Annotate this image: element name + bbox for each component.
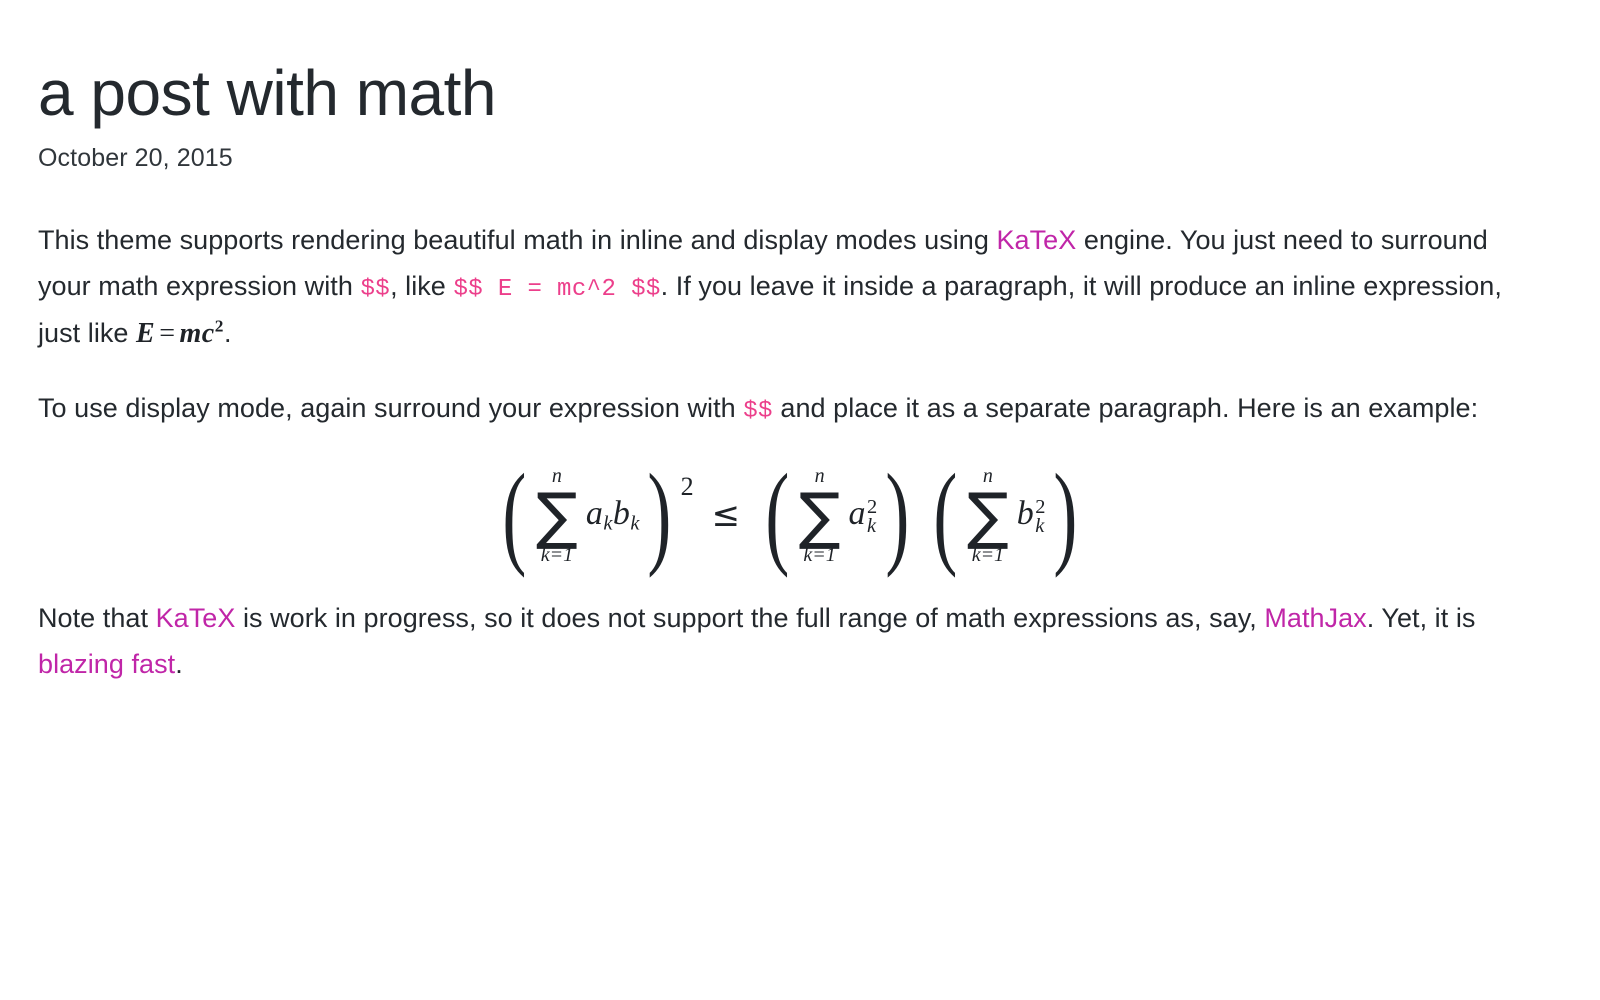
math-variable-mc: mc [180, 318, 215, 349]
summand-rhs1: a2k [849, 495, 878, 536]
display-equation-cauchy-schwarz: ( n ∑ k=1 akbk ) 2 ≤ ( n ∑ [495, 466, 1084, 565]
summation-lhs: n ∑ k=1 [536, 466, 578, 565]
term-base-b: b [613, 495, 631, 532]
code-emc2-snippet: $$ E = mc^2 $$ [453, 276, 660, 303]
paragraph2-text-1: To use display mode, again surround your… [38, 393, 743, 423]
paragraph-note: Note that KaTeX is work in progress, so … [38, 595, 1538, 688]
post-body: This theme supports rendering beautiful … [38, 217, 1562, 688]
sum-lower-limit-rhs2: k=1 [972, 545, 1004, 565]
sum-lower-limit-lhs: k=1 [541, 545, 573, 565]
summation-rhs1: n ∑ k=1 [799, 466, 841, 565]
sum-lower-limit-rhs1: k=1 [803, 545, 835, 565]
code-dollar-delimiters-2: $$ [743, 398, 773, 425]
math-variable-E: E [136, 318, 155, 349]
post-page: a post with math October 20, 2015 This t… [0, 0, 1600, 1000]
paragraph-display-mode: To use display mode, again surround your… [38, 385, 1538, 432]
term-script-stack-rhs1: 2k [867, 498, 878, 537]
term-script-stack-rhs2: 2k [1035, 498, 1046, 537]
term-subscript-b: k [630, 513, 640, 535]
paragraph1-text-5: . [224, 318, 232, 348]
math-equals-sign: = [159, 318, 175, 349]
paragraph3-text-2: is work in progress, so it does not supp… [235, 603, 1264, 633]
equation-rhs-group-1: ( n ∑ k=1 a2k ) [758, 466, 916, 565]
paren-close-rhs2: ) [1053, 466, 1077, 565]
paren-close-lhs: ) [647, 466, 671, 565]
paren-open-lhs: ( [503, 466, 527, 565]
paren-open-rhs1: ( [765, 466, 789, 565]
post-date: October 20, 2015 [38, 144, 1562, 173]
link-blazing-fast[interactable]: blazing fast [38, 649, 175, 679]
sigma-icon: ∑ [967, 487, 1009, 544]
paragraph1-text-1: This theme supports rendering beautiful … [38, 225, 997, 255]
term-base-b-squared: b [1017, 495, 1035, 532]
paragraph2-text-2: and place it as a separate paragraph. He… [773, 393, 1478, 423]
equation-lhs-group: ( n ∑ k=1 akbk ) 2 [495, 466, 693, 565]
term-subscript-k: k [1035, 517, 1045, 536]
link-mathjax[interactable]: MathJax [1264, 603, 1366, 633]
display-equation-container: ( n ∑ k=1 akbk ) 2 ≤ ( n ∑ [38, 466, 1562, 565]
page-title: a post with math [38, 58, 1562, 130]
summation-rhs2: n ∑ k=1 [967, 466, 1009, 565]
inline-math-emc2: E=mc2 [136, 318, 224, 349]
term-base-a: a [586, 495, 604, 532]
paragraph3-text-1: Note that [38, 603, 156, 633]
link-katex-intro[interactable]: KaTeX [997, 225, 1077, 255]
term-base-a-squared: a [849, 495, 867, 532]
equation-rhs-group-2: ( n ∑ k=1 b2k ) [926, 466, 1084, 565]
relation-less-equal: ≤ [712, 495, 741, 535]
sigma-icon: ∑ [799, 487, 841, 544]
paren-close-rhs1: ) [885, 466, 909, 565]
term-subscript-k: k [867, 517, 877, 536]
code-dollar-delimiters: $$ [360, 276, 390, 303]
sigma-icon: ∑ [536, 487, 578, 544]
paragraph3-text-3: . Yet, it is [1367, 603, 1476, 633]
math-exponent-2: 2 [215, 317, 224, 336]
paragraph3-text-4: . [175, 649, 183, 679]
summand-lhs: akbk [586, 495, 640, 536]
summand-rhs2: b2k [1017, 495, 1046, 536]
equation-exponent-2: 2 [681, 472, 694, 502]
paragraph-intro: This theme supports rendering beautiful … [38, 217, 1538, 359]
paragraph1-text-3: , like [390, 271, 453, 301]
term-subscript-a: k [603, 513, 613, 535]
paren-open-rhs2: ( [934, 466, 958, 565]
link-katex-note[interactable]: KaTeX [156, 603, 236, 633]
